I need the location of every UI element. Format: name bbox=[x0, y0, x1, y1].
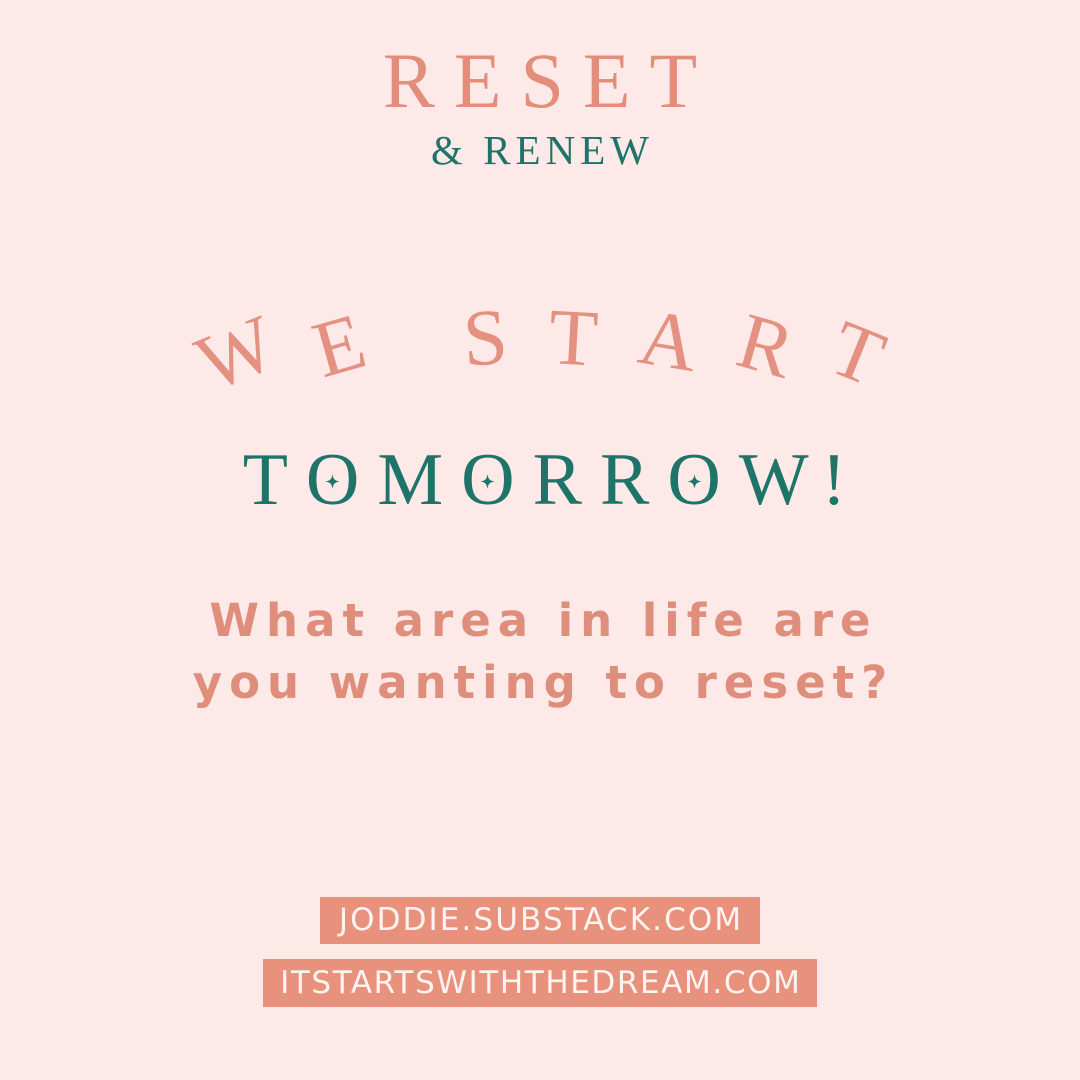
four-point-star-icon bbox=[325, 474, 340, 489]
headline-letter: R bbox=[533, 441, 582, 519]
headline-exclamation: ! bbox=[822, 441, 847, 519]
headline-letter: M bbox=[377, 441, 443, 519]
banner-row-secondary: ITSTARTSWITHTHEDREAM.COM bbox=[0, 959, 1080, 1007]
arched-letter: A bbox=[633, 295, 704, 387]
headline-tomorrow: TOMORROW! bbox=[0, 441, 1080, 519]
link-substack[interactable]: JODDIE.SUBSTACK.COM bbox=[320, 897, 760, 944]
arched-letter: R bbox=[728, 298, 802, 393]
four-point-star-icon bbox=[687, 474, 702, 489]
headline-letter: O bbox=[461, 441, 514, 519]
page-subtitle: & RENEW bbox=[0, 128, 1080, 172]
question-block: What area in life are you wanting to res… bbox=[0, 590, 1080, 714]
arched-letter: T bbox=[819, 306, 896, 402]
link-website[interactable]: ITSTARTSWITHTHEDREAM.COM bbox=[263, 959, 818, 1007]
poster-canvas: RESET & RENEW WE START TOMORROW! What ar… bbox=[0, 0, 1080, 1080]
arched-letter: E bbox=[304, 299, 374, 393]
arched-letter-space bbox=[389, 297, 436, 385]
headline-letter: T bbox=[243, 441, 288, 519]
page-title: RESET bbox=[0, 44, 1080, 118]
question-line-2: you wanting to reset? bbox=[0, 652, 1080, 714]
four-point-star-icon bbox=[480, 474, 495, 489]
headline-letter: R bbox=[600, 441, 649, 519]
arched-letter: S bbox=[460, 295, 509, 381]
headline-letter: O bbox=[667, 441, 720, 519]
banner-row-primary: JODDIE.SUBSTACK.COM bbox=[0, 897, 1080, 944]
question-line-1: What area in life are bbox=[0, 590, 1080, 652]
headline-letter: W bbox=[739, 441, 809, 519]
arched-letter: W bbox=[185, 301, 286, 407]
arched-headline: WE START bbox=[0, 296, 1080, 420]
arched-letter: T bbox=[547, 295, 600, 382]
link-banners: JODDIE.SUBSTACK.COM ITSTARTSWITHTHEDREAM… bbox=[0, 897, 1080, 1007]
masthead: RESET & RENEW bbox=[0, 44, 1080, 172]
arched-headline-letters: WE START bbox=[0, 296, 1080, 420]
headline-letter: O bbox=[306, 441, 359, 519]
